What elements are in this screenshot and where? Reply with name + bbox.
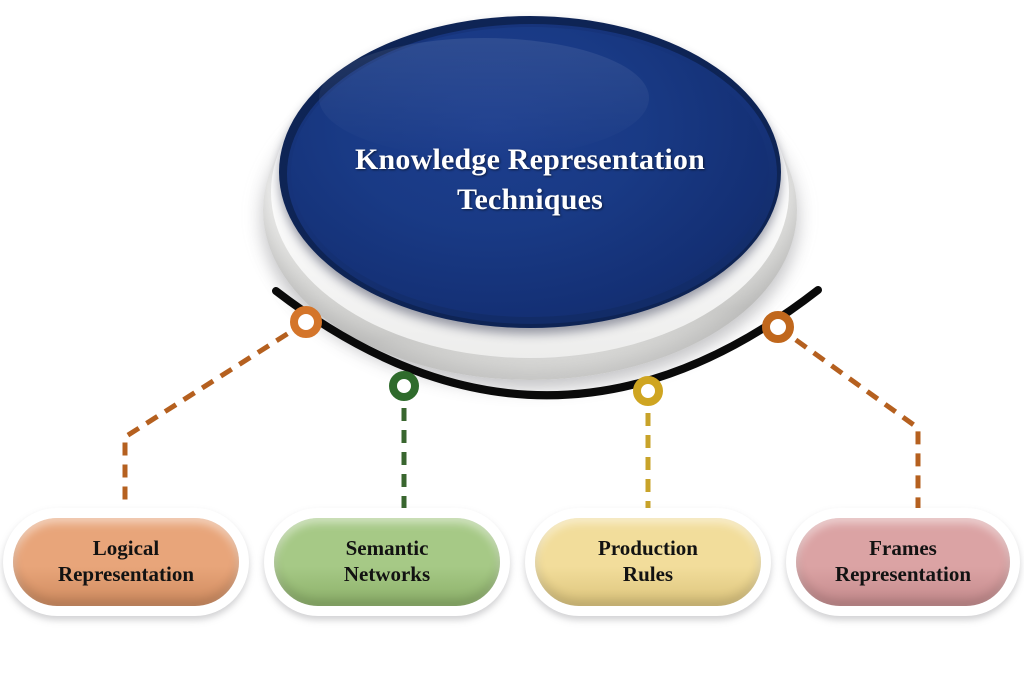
technique-card-production-label: Production Rules (598, 536, 698, 587)
technique-card-production-fill: Production Rules (535, 518, 761, 606)
technique-card-semantic-label: Semantic Networks (344, 536, 430, 587)
technique-card-frames[interactable]: Frames Representation (786, 508, 1020, 616)
diagram-canvas: Knowledge Representation Techniques Logi… (0, 0, 1024, 678)
technique-card-semantic-fill: Semantic Networks (274, 518, 500, 606)
hub-title: Knowledge Representation Techniques (307, 140, 753, 219)
technique-card-semantic[interactable]: Semantic Networks (264, 508, 510, 616)
central-hub[interactable]: Knowledge Representation Techniques (245, 12, 815, 402)
technique-card-logical-fill: Logical Representation (13, 518, 239, 606)
technique-card-logical-label: Logical Representation (58, 536, 194, 587)
technique-card-frames-fill: Frames Representation (796, 518, 1010, 606)
technique-card-logical[interactable]: Logical Representation (3, 508, 249, 616)
technique-card-frames-label: Frames Representation (835, 536, 971, 587)
technique-card-production[interactable]: Production Rules (525, 508, 771, 616)
